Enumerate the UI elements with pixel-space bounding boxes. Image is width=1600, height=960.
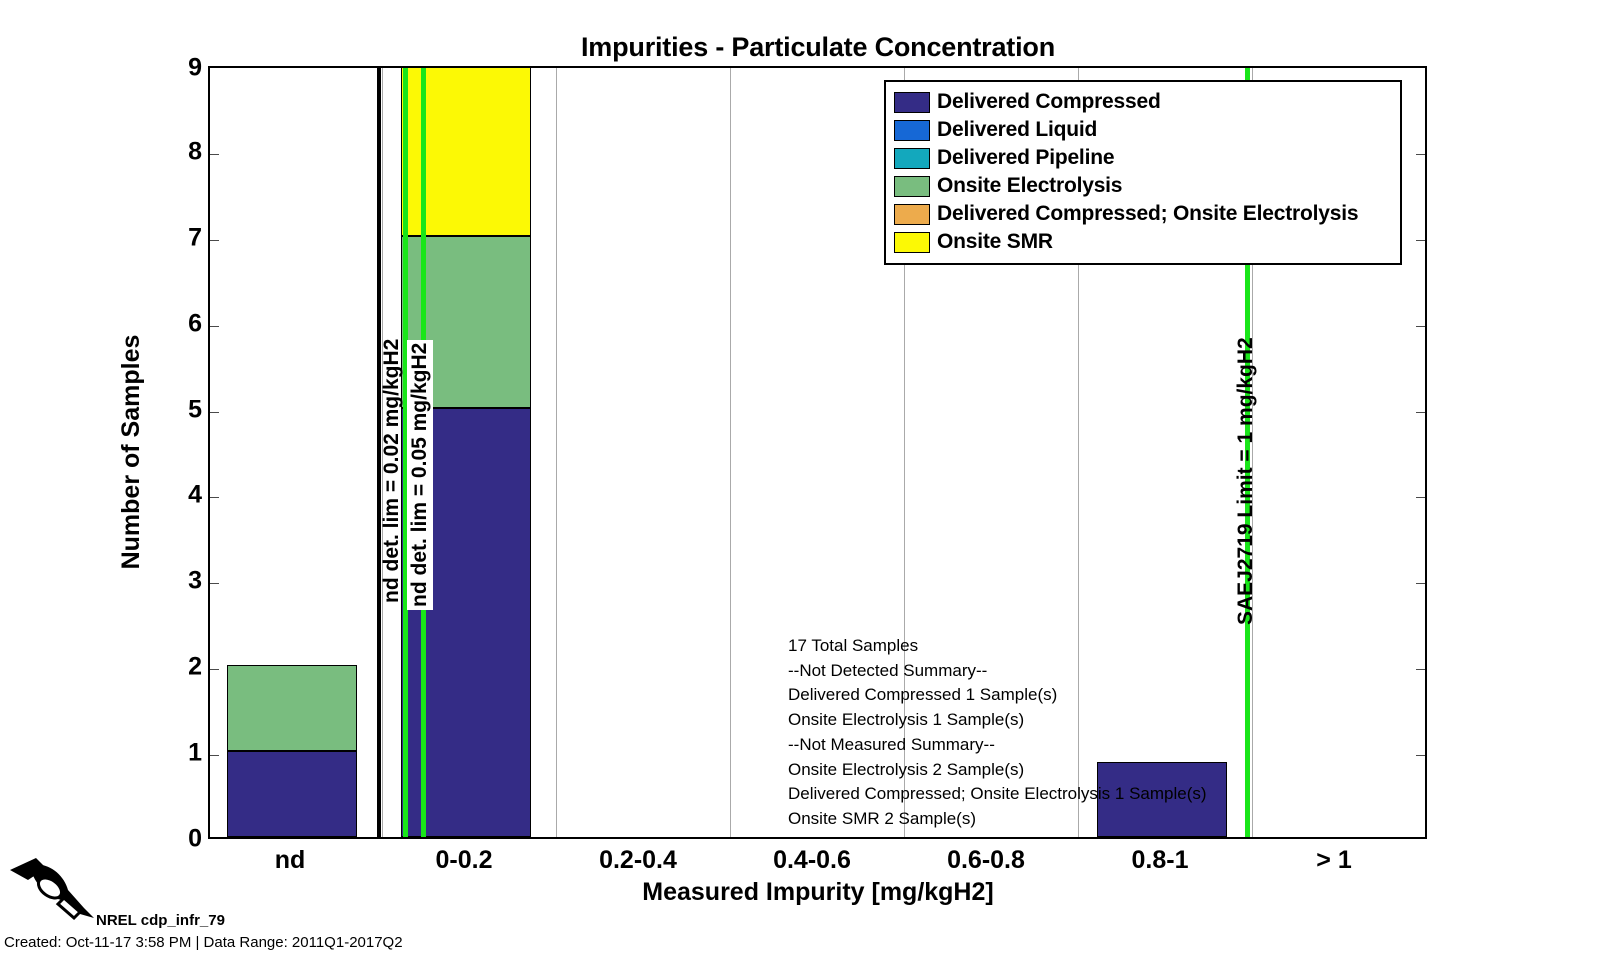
bar-segment-onsite-electrolysis[interactable]: [227, 665, 357, 751]
category-separator: [730, 68, 731, 837]
y-tick-label: 1: [166, 739, 202, 768]
legend-item-delivered-compressed[interactable]: Delivered Compressed: [894, 88, 1392, 116]
reference-line-label-sae-limit: SAEJ2719 Limit = 1 mg/kgH2: [1233, 334, 1259, 628]
x-tick-label-gt1: > 1: [1316, 846, 1351, 875]
created-line: Created: Oct-11-17 3:58 PM | Data Range:…: [4, 934, 403, 951]
y-tick: [1416, 240, 1425, 241]
summary-not-detected-item: Delivered Compressed 1 Sample(s): [788, 683, 1207, 708]
y-axis-label: Number of Samples: [117, 335, 146, 570]
y-tick: [1416, 755, 1425, 756]
x-tick-label-0.6-0.8: 0.6-0.8: [947, 846, 1025, 875]
x-tick-label-0-0.2: 0-0.2: [436, 846, 493, 875]
y-tick-label: 9: [166, 54, 202, 83]
reference-line-label-nd-det-lim-005: nd det. lim = 0.05 mg/kgH2: [407, 340, 433, 610]
y-tick: [210, 412, 219, 413]
y-tick-labels: 0 1 2 3 4 5 6 7 8 9: [166, 66, 202, 839]
y-tick: [210, 755, 219, 756]
summary-not-measured-item: Delivered Compressed; Onsite Electrolysi…: [788, 782, 1207, 807]
y-tick-label: 3: [166, 567, 202, 596]
y-tick: [210, 154, 219, 155]
x-tick-label-0.4-0.6: 0.4-0.6: [773, 846, 851, 875]
x-tick-label-0.8-1: 0.8-1: [1132, 846, 1189, 875]
summary-not-detected-item: Onsite Electrolysis 1 Sample(s): [788, 708, 1207, 733]
y-tick: [1416, 583, 1425, 584]
bar-stack-nd[interactable]: [227, 665, 357, 837]
page-title: Impurities - Particulate Concentration: [208, 32, 1428, 63]
reference-line-label-nd-det-lim-002: nd det. lim = 0.02 mg/kgH2: [379, 336, 405, 606]
legend-item-delivered-compressed-onsite-electrolysis[interactable]: Delivered Compressed; Onsite Electrolysi…: [894, 200, 1392, 228]
y-tick: [210, 669, 219, 670]
y-tick-label: 6: [166, 309, 202, 338]
y-tick: [210, 497, 219, 498]
y-tick: [1416, 669, 1425, 670]
y-tick: [210, 583, 219, 584]
legend-item-onsite-smr[interactable]: Onsite SMR: [894, 228, 1392, 256]
summary-annotation: 17 Total Samples --Not Detected Summary-…: [788, 634, 1207, 832]
y-tick-label: 2: [166, 653, 202, 682]
y-tick: [1416, 154, 1425, 155]
legend-swatch-icon: [894, 176, 930, 197]
y-tick: [210, 326, 219, 327]
x-tick-label-0.2-0.4: 0.2-0.4: [599, 846, 677, 875]
legend-swatch-icon: [894, 204, 930, 225]
fuel-nozzle-icon: [6, 852, 98, 924]
legend-label: Onsite SMR: [937, 230, 1053, 254]
legend-swatch-icon: [894, 92, 930, 113]
summary-not-measured-header: --Not Measured Summary--: [788, 733, 1207, 758]
summary-not-measured-item: Onsite SMR 2 Sample(s): [788, 807, 1207, 832]
legend-label: Delivered Liquid: [937, 118, 1097, 142]
legend-label: Delivered Pipeline: [937, 146, 1114, 170]
legend-label: Onsite Electrolysis: [937, 174, 1122, 198]
summary-not-detected-header: --Not Detected Summary--: [788, 659, 1207, 684]
legend-item-onsite-electrolysis[interactable]: Onsite Electrolysis: [894, 172, 1392, 200]
y-tick: [1416, 326, 1425, 327]
y-tick-label: 4: [166, 481, 202, 510]
legend: Delivered Compressed Delivered Liquid De…: [884, 80, 1402, 265]
legend-item-delivered-pipeline[interactable]: Delivered Pipeline: [894, 144, 1392, 172]
legend-swatch-icon: [894, 148, 930, 169]
y-tick: [1416, 412, 1425, 413]
y-tick: [210, 240, 219, 241]
footer: NREL cdp_infr_79 Created: Oct-11-17 3:58…: [0, 838, 420, 960]
legend-label: Delivered Compressed; Onsite Electrolysi…: [937, 202, 1358, 226]
legend-swatch-icon: [894, 120, 930, 141]
legend-label: Delivered Compressed: [937, 90, 1161, 114]
y-tick-label: 8: [166, 137, 202, 166]
y-tick-label: 5: [166, 395, 202, 424]
summary-total: 17 Total Samples: [788, 634, 1207, 659]
nrel-tag: NREL cdp_infr_79: [96, 912, 225, 929]
legend-swatch-icon: [894, 232, 930, 253]
legend-item-delivered-liquid[interactable]: Delivered Liquid: [894, 116, 1392, 144]
bar-segment-delivered-compressed[interactable]: [227, 751, 357, 837]
summary-not-measured-item: Onsite Electrolysis 2 Sample(s): [788, 758, 1207, 783]
y-tick: [1416, 497, 1425, 498]
y-tick-label: 7: [166, 223, 202, 252]
category-separator: [556, 68, 557, 837]
